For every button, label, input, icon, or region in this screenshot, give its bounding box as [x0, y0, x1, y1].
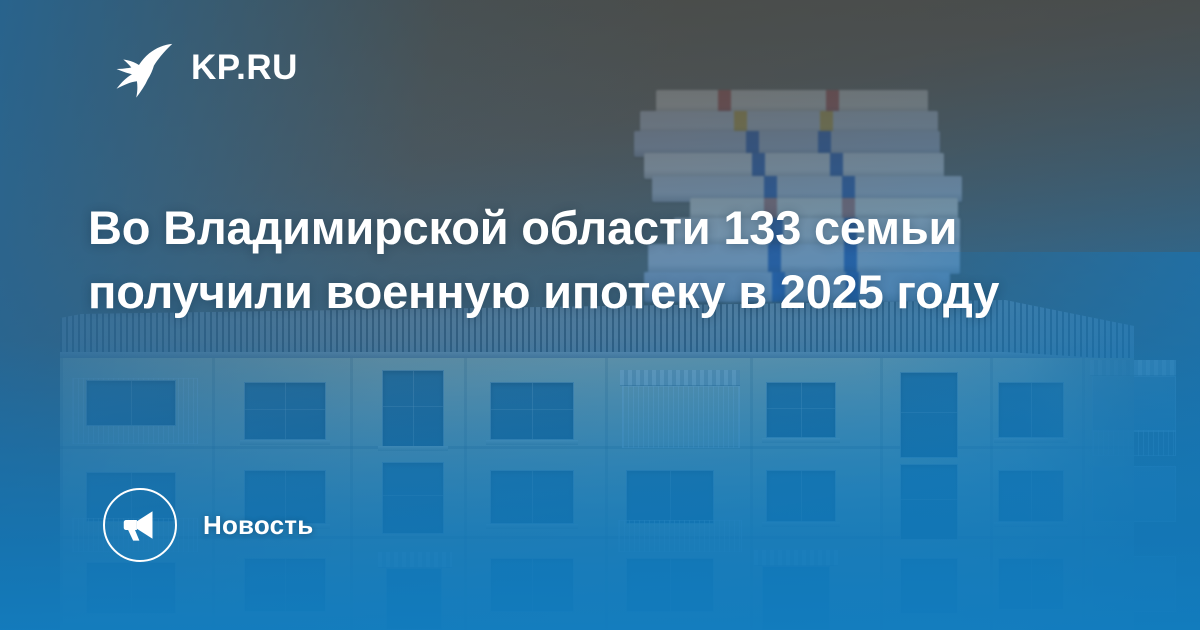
page-title: Во Владимирской области 133 семьи получи… — [88, 196, 1088, 325]
swallow-bird-icon — [107, 33, 175, 101]
brand-lockup[interactable]: KP.RU — [107, 33, 298, 101]
status-badge[interactable]: Новость — [103, 488, 313, 562]
card-content: KP.RU Во Владимирской области 133 семьи … — [0, 0, 1200, 630]
status-badge-label: Новость — [203, 510, 313, 541]
news-share-card: KP.RU Во Владимирской области 133 семьи … — [0, 0, 1200, 630]
brand-name: KP.RU — [191, 50, 298, 85]
megaphone-icon — [103, 488, 177, 562]
